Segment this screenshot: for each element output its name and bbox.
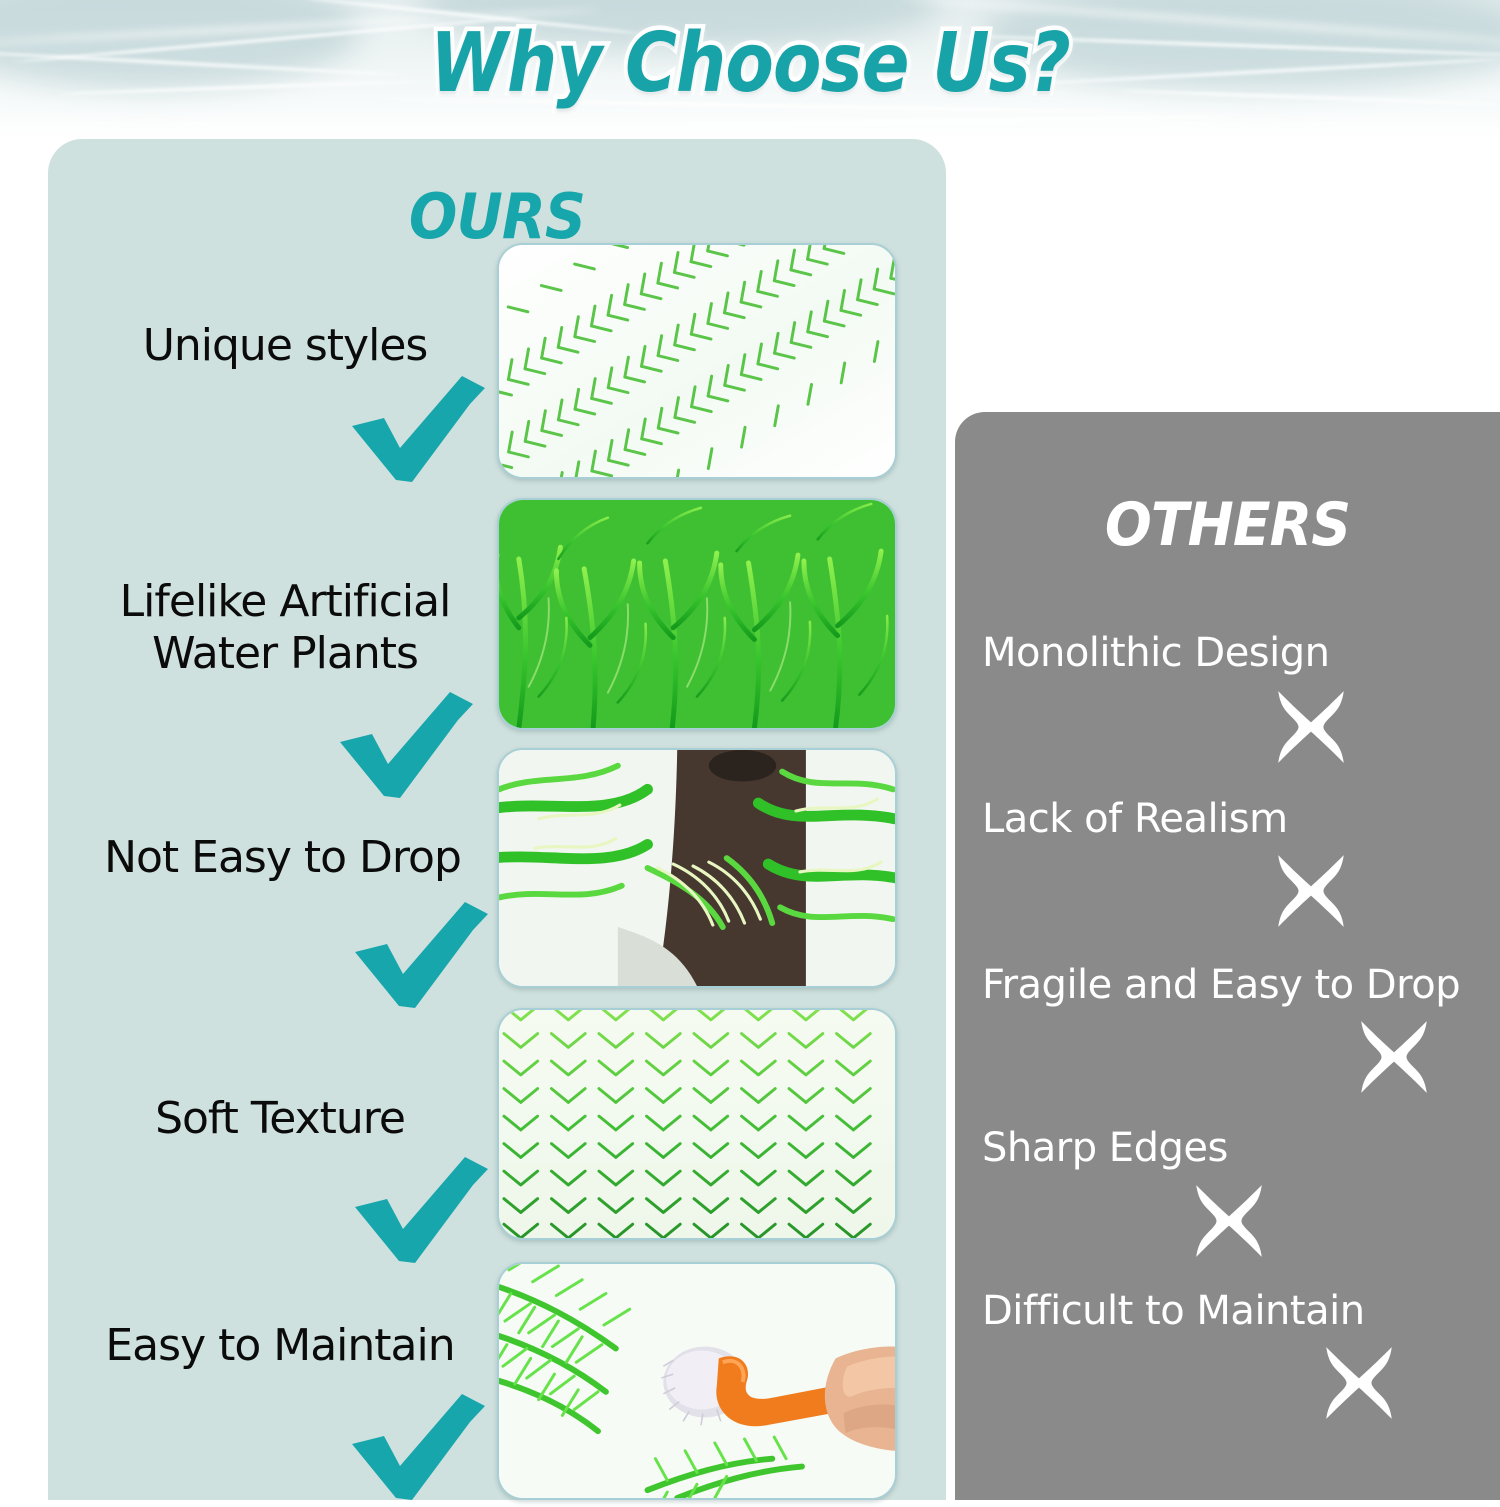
- feature-label-soft-texture: Soft Texture: [80, 1093, 480, 1145]
- drawback-label-difficult-to-maintain: Difficult to Maintain: [982, 1288, 1365, 1334]
- product-photo-easy-to-maintain: [497, 1262, 897, 1500]
- check-icon: [325, 900, 490, 1010]
- cross-icon: [1320, 1344, 1398, 1422]
- feature-label-easy-to-maintain: Easy to Maintain: [70, 1320, 490, 1372]
- page-title: Why Choose Us?: [105, 16, 1395, 111]
- cross-icon: [1190, 1182, 1268, 1260]
- cross-icon: [1355, 1018, 1433, 1096]
- feature-label-unique-styles: Unique styles: [90, 320, 480, 372]
- feature-label-not-easy-to-drop: Not Easy to Drop: [75, 832, 490, 884]
- others-heading: OTHERS: [977, 490, 1478, 560]
- check-icon: [325, 1155, 490, 1265]
- product-photo-unique-styles: [497, 243, 897, 479]
- check-icon: [310, 690, 475, 800]
- feature-label-lifelike-plants: Lifelike Artificial Water Plants: [70, 576, 500, 680]
- others-panel: OTHERS: [955, 412, 1500, 1500]
- water-wave: [620, 115, 1240, 129]
- drawback-label-monolithic-design: Monolithic Design: [982, 630, 1330, 676]
- check-icon: [322, 1392, 487, 1502]
- drawback-label-lack-of-realism: Lack of Realism: [982, 796, 1288, 842]
- cross-icon: [1272, 852, 1350, 930]
- product-photo-lifelike-plants: [497, 498, 897, 730]
- cross-icon: [1272, 688, 1350, 766]
- product-photo-soft-texture: [497, 1008, 897, 1240]
- check-icon: [322, 374, 487, 484]
- drawback-label-fragile-easy-to-drop: Fragile and Easy to Drop: [982, 962, 1460, 1008]
- product-photo-not-easy-to-drop: [497, 748, 897, 988]
- drawback-label-sharp-edges: Sharp Edges: [982, 1125, 1228, 1171]
